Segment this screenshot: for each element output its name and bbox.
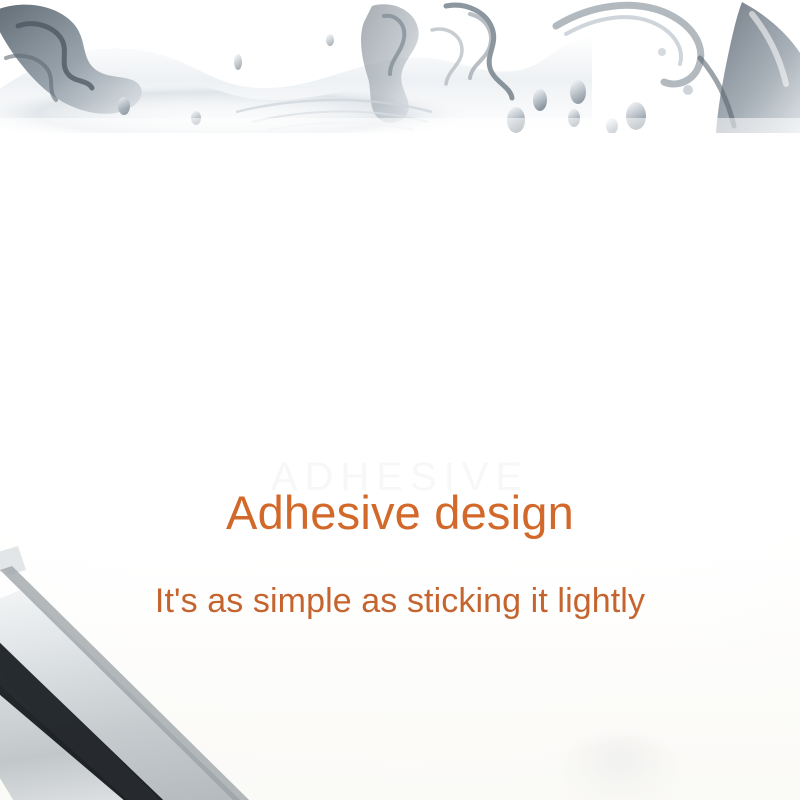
content-stage — [0, 133, 800, 800]
page-title: Adhesive design — [0, 488, 800, 539]
copy-block: Adhesive design It's as simple as sticki… — [0, 488, 800, 620]
water-splash-photo — [0, 0, 800, 133]
page-subtitle: It's as simple as sticking it lightly — [0, 583, 800, 620]
product-banner: ADHESIVE Adhesive design It's as simple … — [0, 0, 800, 800]
